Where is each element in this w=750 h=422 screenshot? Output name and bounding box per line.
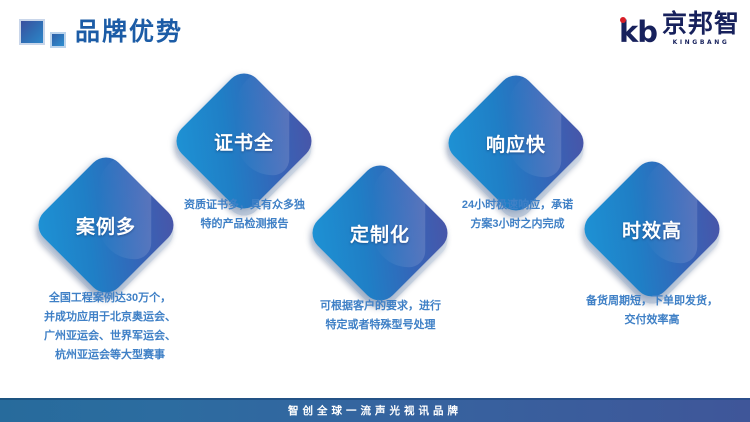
logo-red-dot-icon: [620, 17, 626, 23]
advantage-label-1: 案例多: [53, 172, 159, 278]
slide-header: 品牌优势 kb 京邦智 KINGBANG: [0, 0, 750, 62]
advantage-label-3: 定制化: [327, 180, 433, 286]
decor-square-small-icon: [50, 32, 66, 48]
footer-slogan: 智创全球一流声光视讯品牌: [288, 403, 462, 418]
brand-logo: kb 京邦智 KINGBANG: [619, 13, 740, 47]
logo-chinese-name: 京邦智: [662, 12, 740, 37]
advantage-desc-2: 资质证书多，具有众多独 特的产品检测报告: [167, 196, 322, 234]
decor-square-large-icon: [19, 19, 45, 45]
advantage-label-2: 证书全: [191, 88, 297, 194]
logo-english-name: KINGBANG: [673, 38, 730, 47]
advantage-label-4: 响应快: [463, 90, 569, 196]
slide-root: 品牌优势 kb 京邦智 KINGBANG 案例多 全国工程案例达30万个， 并成…: [0, 0, 750, 422]
advantage-label-5: 时效高: [599, 176, 705, 282]
advantage-desc-5: 备货周期短，下单即发货， 交付效率高: [572, 292, 732, 330]
logo-mark-icon: kb: [619, 18, 657, 47]
slide-footer: 智创全球一流声光视讯品牌: [0, 398, 750, 422]
advantage-desc-3: 可根据客户的要求，进行 特定或者特殊型号处理: [303, 297, 458, 335]
advantage-desc-4: 24小时极速响应，承诺 方案3小时之内完成: [440, 196, 595, 234]
page-title: 品牌优势: [75, 15, 183, 49]
logo-wordmark: 京邦智 KINGBANG: [662, 12, 740, 47]
advantage-desc-1: 全国工程案例达30万个， 并成功应用于北京奥运会、 广州亚运会、世界军运会、 杭…: [10, 289, 210, 365]
